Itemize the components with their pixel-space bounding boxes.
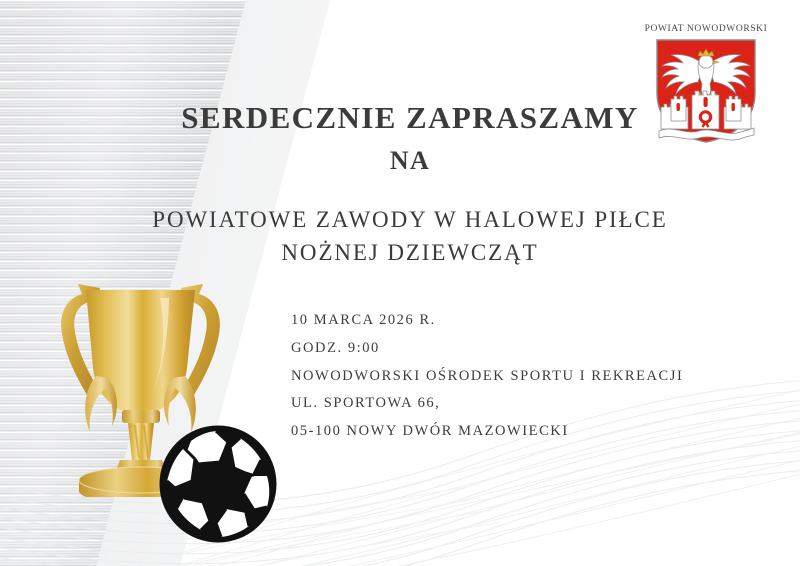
- poster-canvas: POWIAT NOWODWORSKI: [0, 0, 800, 566]
- event-street: UL. SPORTOWA 66,: [291, 390, 761, 418]
- event-details: 10 MARCA 2026 R. GODZ. 9:00 NOWODWORSKI …: [291, 307, 761, 446]
- event-subtitle-line1: POWIATOWE ZAWODY W HALOWEJ PIŁCE: [120, 204, 700, 237]
- event-venue: NOWODWORSKI OŚRODEK SPORTU I REKREACJI: [291, 363, 761, 391]
- event-date: 10 MARCA 2026 R.: [291, 307, 761, 335]
- event-subtitle: POWIATOWE ZAWODY W HALOWEJ PIŁCE NOŻNEJ …: [120, 204, 700, 269]
- invitation-headline: SERDECZNIE ZAPRASZAMY: [150, 102, 670, 133]
- invitation-headline-na: NA: [150, 148, 670, 174]
- coat-of-arms: POWIAT NOWODWORSKI: [630, 24, 782, 154]
- event-time: GODZ. 9:00: [291, 335, 761, 363]
- event-city: 05-100 NOWY DWÓR MAZOWIECKI: [291, 418, 761, 446]
- coat-of-arms-caption: POWIAT NOWODWORSKI: [630, 24, 782, 34]
- soccer-ball-icon: [158, 424, 278, 544]
- event-subtitle-line2: NOŻNEJ DZIEWCZĄT: [120, 237, 700, 270]
